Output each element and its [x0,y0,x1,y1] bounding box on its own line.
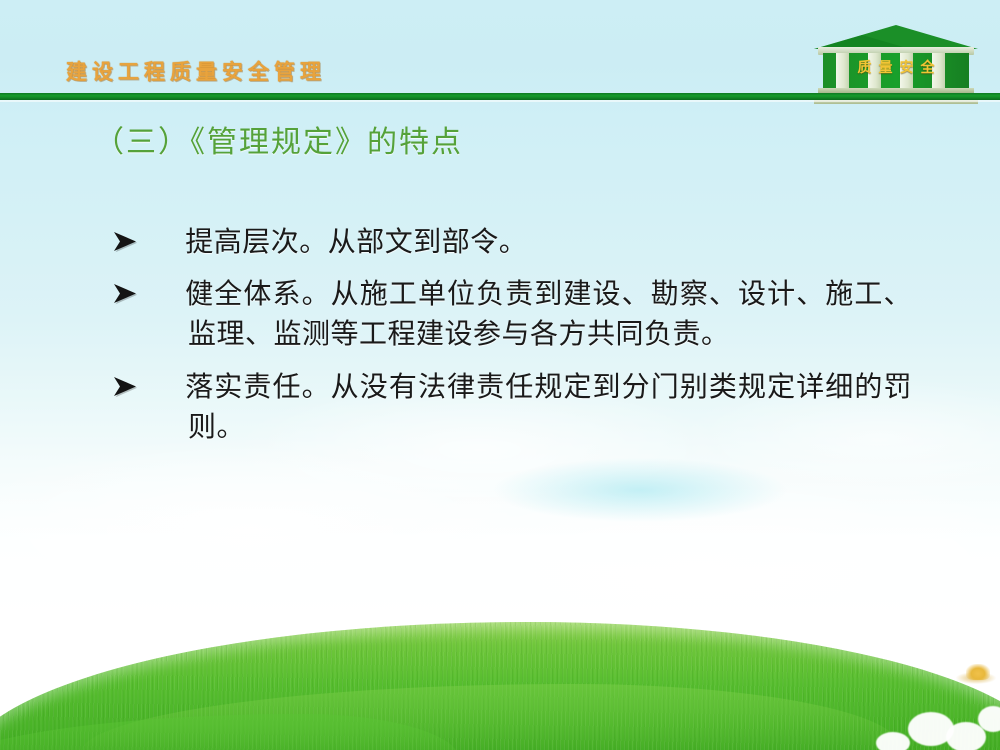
list-item-text: 落实责任。从没有法律责任规定到分门别类规定详细的罚则。 [188,367,912,447]
arrow-bullet-icon [112,282,142,310]
quality-safety-temple-logo: 质量安全 [806,25,986,103]
page-title: （三）《管理规定》的特点 [94,124,463,162]
list-item: 落实责任。从没有法律责任规定到分门别类规定详细的罚则。 [112,367,912,447]
slide-canvas: 建设工程质量安全管理 质量安全 （三）《管理规定》的特点 [0,0,1000,750]
arrow-bullet-icon [112,230,142,258]
list-item-text: 健全体系。从施工单位负责到建设、勘察、设计、施工、监理、监测等工程建设参与各方共… [188,274,912,354]
list-item: 健全体系。从施工单位负责到建设、勘察、设计、施工、监理、监测等工程建设参与各方共… [112,274,912,354]
header-divider-highlight [0,100,1000,102]
arrow-bullet-icon [112,375,142,403]
list-item: 提高层次。从部文到部令。 [112,222,912,262]
sheep-shape-3 [876,732,910,750]
header-title: 建设工程质量安全管理 [66,62,326,83]
sheep-shape-4 [978,706,1000,732]
hay-stack-icon [966,664,990,680]
header-divider-rule [0,93,1000,100]
list-item-text: 提高层次。从部文到部令。 [188,222,912,262]
logo-label: 质量安全 [823,61,969,75]
bullet-list: 提高层次。从部文到部令。 健全体系。从施工单位负责到建设、勘察、设计、施工、监理… [112,222,912,457]
slide-header: 建设工程质量安全管理 质量安全 [0,0,1000,100]
